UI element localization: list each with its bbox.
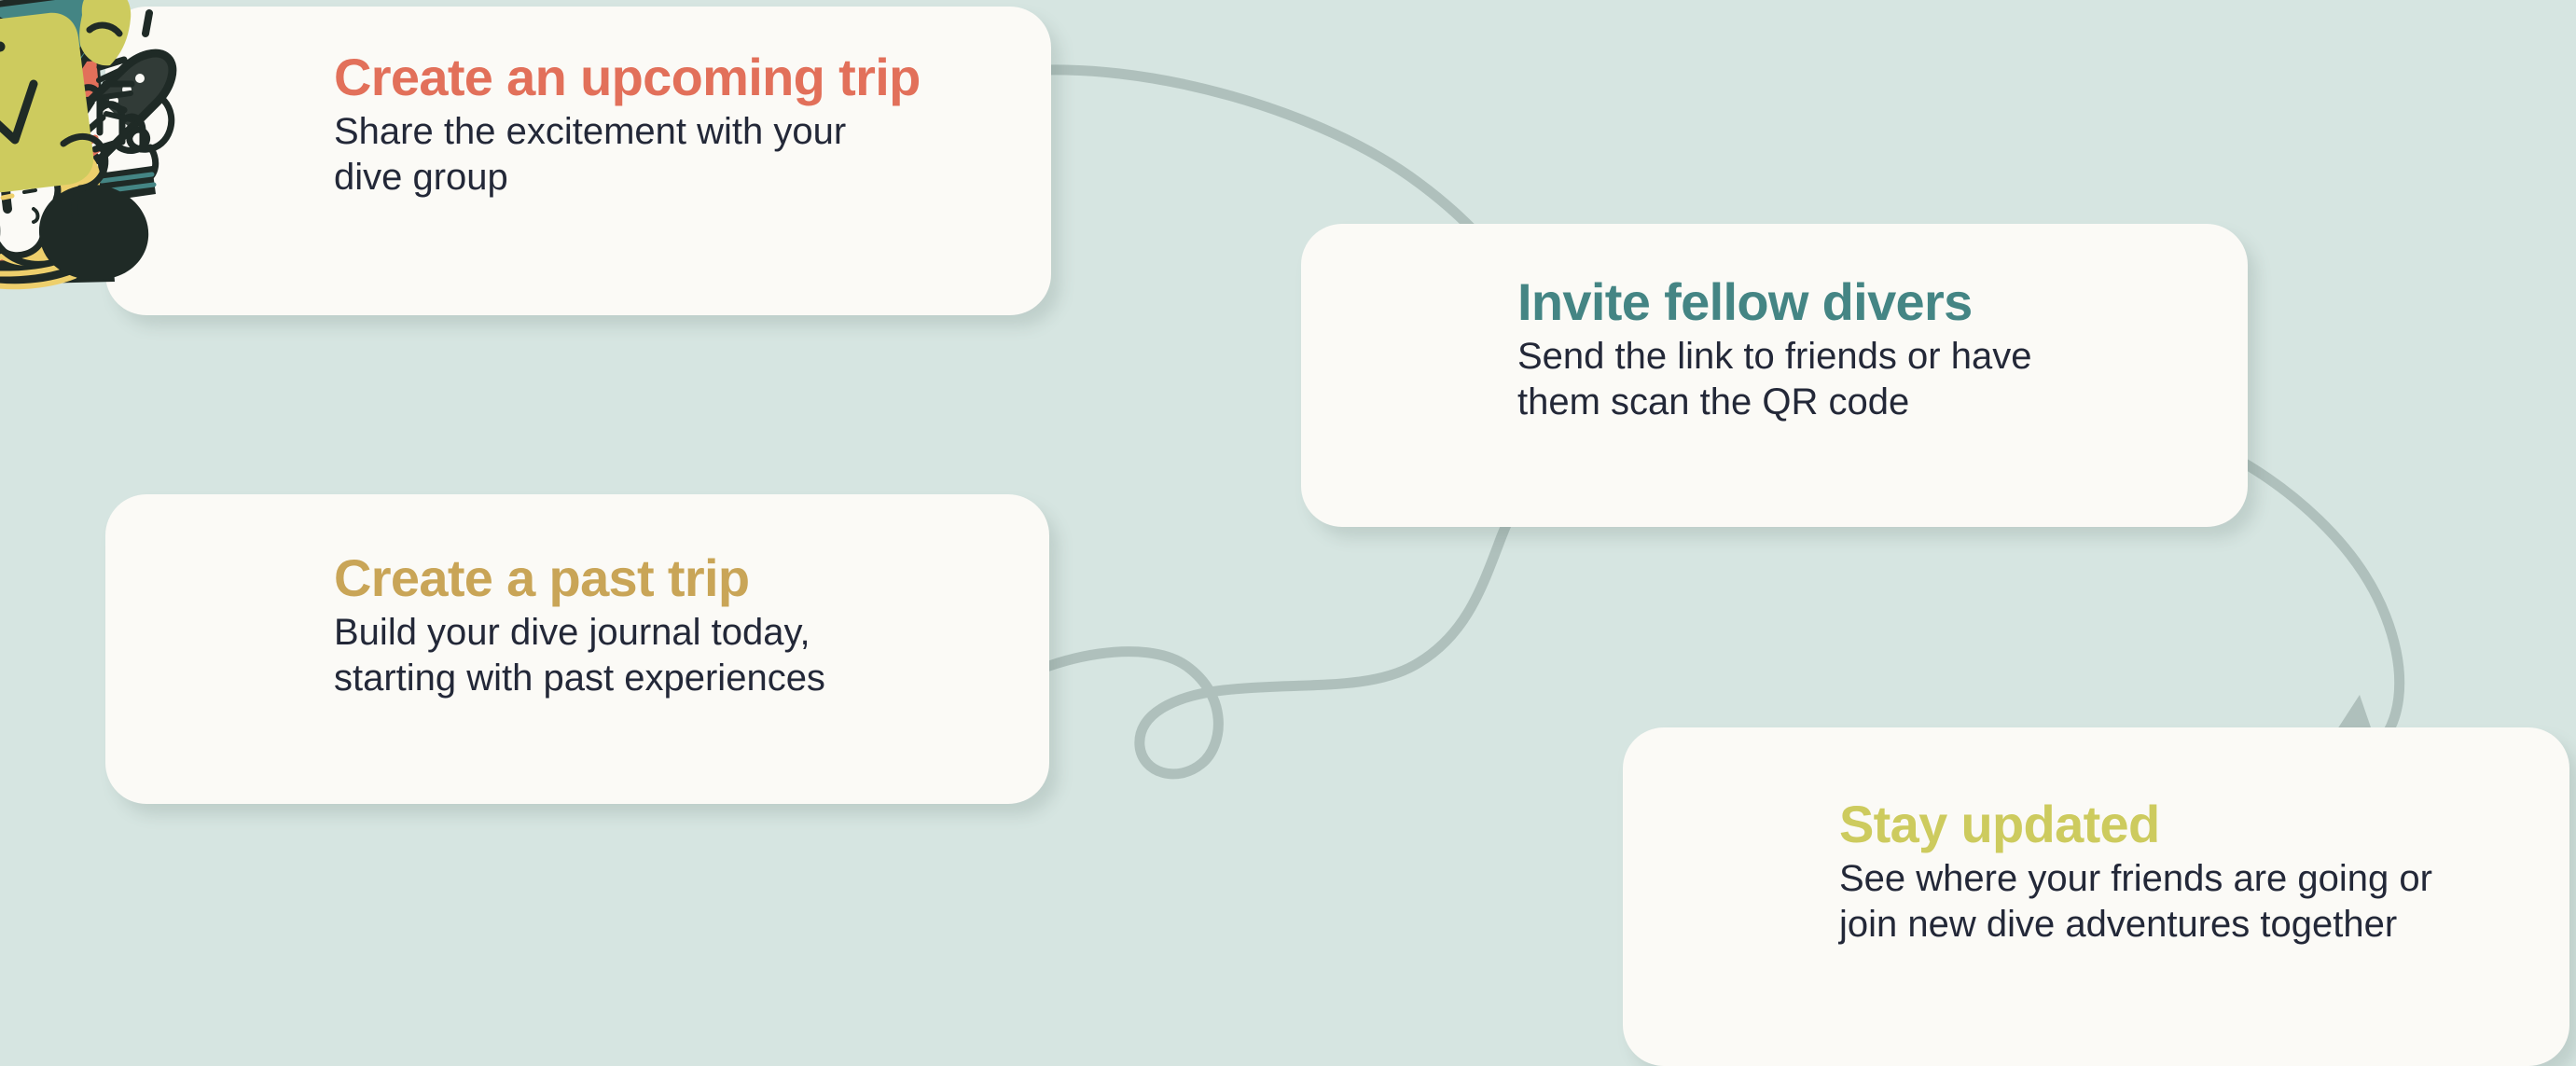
card-invite-inner: Invite fellow divers Send the link to fr…: [1301, 224, 2248, 527]
card-invite-desc-line1: Send the link to friends or have: [1517, 334, 2031, 380]
connector-upcoming-to-invite: [1013, 70, 1487, 243]
card-upcoming-title: Create an upcoming trip: [334, 51, 921, 104]
card-upcoming-text: Create an upcoming trip Share the excite…: [334, 51, 921, 201]
card-stay-updated[interactable]: Stay updated See where your friends are …: [1623, 727, 2569, 1066]
card-past-description: Build your dive journal today, starting …: [334, 610, 825, 701]
card-upcoming-inner: Create an upcoming trip Share the excite…: [105, 7, 1051, 315]
card-invite-desc-line2: them scan the QR code: [1517, 380, 2031, 425]
card-past-text: Create a past trip Build your dive journ…: [334, 552, 825, 701]
card-invite-fellow-divers[interactable]: Invite fellow divers Send the link to fr…: [1301, 224, 2248, 527]
card-upcoming-desc-line2: dive group: [334, 155, 921, 201]
card-upcoming-desc-line1: Share the excitement with your: [334, 109, 921, 155]
card-stay-title: Stay updated: [1839, 798, 2432, 851]
card-invite-title: Invite fellow divers: [1517, 276, 2031, 328]
card-create-past-trip[interactable]: Create a past trip Build your dive journ…: [105, 494, 1049, 804]
card-create-upcoming-trip[interactable]: Create an upcoming trip Share the excite…: [105, 7, 1051, 315]
card-stay-inner: Stay updated See where your friends are …: [1623, 727, 2569, 1066]
card-stay-text: Stay updated See where your friends are …: [1839, 798, 2432, 948]
card-stay-desc-line1: See where your friends are going or: [1839, 856, 2432, 902]
card-stay-description: See where your friends are going or join…: [1839, 856, 2432, 948]
card-upcoming-description: Share the excitement with your dive grou…: [334, 109, 921, 201]
card-stay-desc-line2: join new dive adventures together: [1839, 902, 2432, 948]
card-invite-description: Send the link to friends or have them sc…: [1517, 334, 2031, 425]
flow-diagram: Create an upcoming trip Share the excite…: [0, 0, 2576, 1066]
card-past-inner: Create a past trip Build your dive journ…: [105, 494, 1049, 804]
connector-past-to-invite: [1003, 486, 1526, 774]
card-past-title: Create a past trip: [334, 552, 825, 604]
card-past-desc-line2: starting with past experiences: [334, 656, 825, 701]
card-past-desc-line1: Build your dive journal today,: [334, 610, 825, 656]
card-invite-text: Invite fellow divers Send the link to fr…: [1517, 276, 2031, 425]
